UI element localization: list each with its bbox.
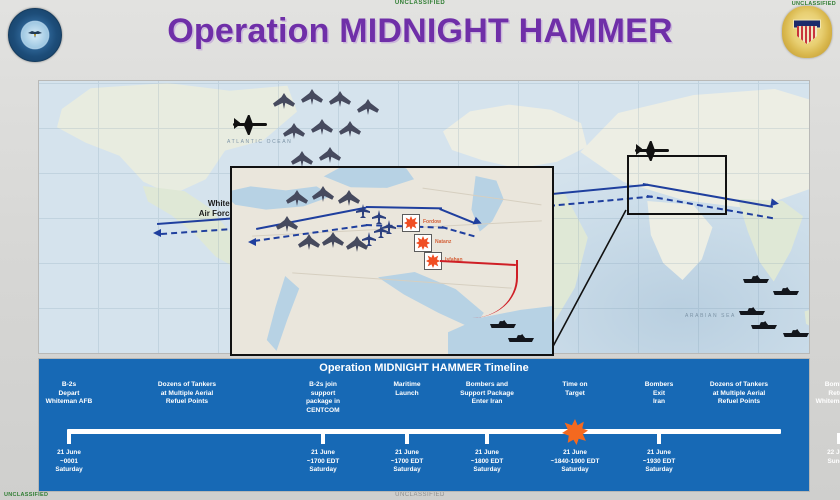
b2-bomber-icon — [322, 232, 344, 248]
timeline-header: Operation MIDNIGHT HAMMER Timeline — [39, 362, 809, 374]
theatre-inset-map: Fordow Natanz Isfahan — [230, 166, 554, 356]
fighter-escort-icon — [362, 232, 376, 246]
timeline-event-label: Dozens of Tankersat Multiple AerialRefue… — [685, 381, 793, 407]
b2-bomber-icon — [298, 234, 320, 250]
slide-root: UNCLASSIFIED UNCLASSIFIED UNCLASSIFIED U… — [0, 0, 840, 500]
target-label-fordow: Fordow — [423, 219, 441, 225]
eagle-glyph — [25, 30, 45, 40]
timeline-event-date: 21 June~0001Saturday — [15, 449, 123, 475]
timeline-tick — [657, 433, 661, 444]
inset-callout-box — [627, 155, 727, 215]
timeline-event-date: 22 JuneSunday — [785, 449, 840, 466]
navy-ship-icon — [508, 332, 534, 342]
b2-bomber-icon — [357, 99, 379, 115]
timeline-tick — [67, 433, 71, 444]
ocean-label-atlantic: ATLANTIC OCEAN — [227, 139, 292, 145]
time-on-target-burst-icon — [562, 419, 588, 445]
navy-ship-icon — [751, 319, 777, 329]
timeline-event-label: BombersReturnWhiteman AFB — [785, 381, 840, 407]
b2-bomber-icon — [291, 151, 313, 167]
navy-ship-icon — [739, 305, 765, 315]
timeline-axis — [67, 429, 781, 434]
target-strike-icon — [414, 234, 432, 252]
return-route-arrowhead — [153, 229, 161, 237]
timeline-tick — [405, 433, 409, 444]
target-strike-icon — [402, 214, 420, 232]
b2-bomber-icon — [273, 93, 295, 109]
b2-bomber-icon — [311, 119, 333, 135]
b2-bomber-icon — [283, 123, 305, 139]
b2-bomber-icon — [286, 190, 308, 206]
fighter-escort-icon — [356, 204, 370, 218]
navy-ship-icon — [490, 318, 516, 328]
timeline-event-label: B-2sDepartWhiteman AFB — [15, 381, 123, 407]
timeline-event-date: 21 June~1930 EDTSaturday — [605, 449, 713, 475]
classification-banner-top: UNCLASSIFIED — [0, 0, 840, 6]
b2-bomber-icon — [301, 89, 323, 105]
b2-bomber-icon — [276, 216, 298, 232]
timeline-tick — [485, 433, 489, 444]
inset-return-arrowhead — [248, 238, 256, 246]
b2-bomber-icon — [339, 121, 361, 137]
navy-ship-icon — [773, 285, 799, 295]
outbound-route-arrowhead — [770, 198, 779, 207]
b2-bomber-icon — [312, 186, 334, 202]
classification-banner-bottom: UNCLASSIFIED — [0, 492, 840, 498]
tanker-aircraft-icon — [233, 115, 267, 135]
page-title: Operation MIDNIGHT HAMMER — [0, 12, 840, 51]
fighter-escort-icon — [382, 220, 396, 234]
b2-bomber-icon — [319, 147, 341, 163]
timeline-event-label: Dozens of Tankersat Multiple AerialRefue… — [133, 381, 241, 407]
navy-ship-icon — [743, 273, 769, 283]
ocean-label-arabian-sea: ARABIAN SEA — [685, 313, 736, 319]
target-label-natanz: Natanz — [435, 239, 451, 245]
timeline-panel: Operation MIDNIGHT HAMMER Timeline B-2sD… — [38, 358, 810, 492]
b2-bomber-icon — [329, 91, 351, 107]
navy-ship-icon — [783, 327, 809, 337]
timeline-tick — [321, 433, 325, 444]
